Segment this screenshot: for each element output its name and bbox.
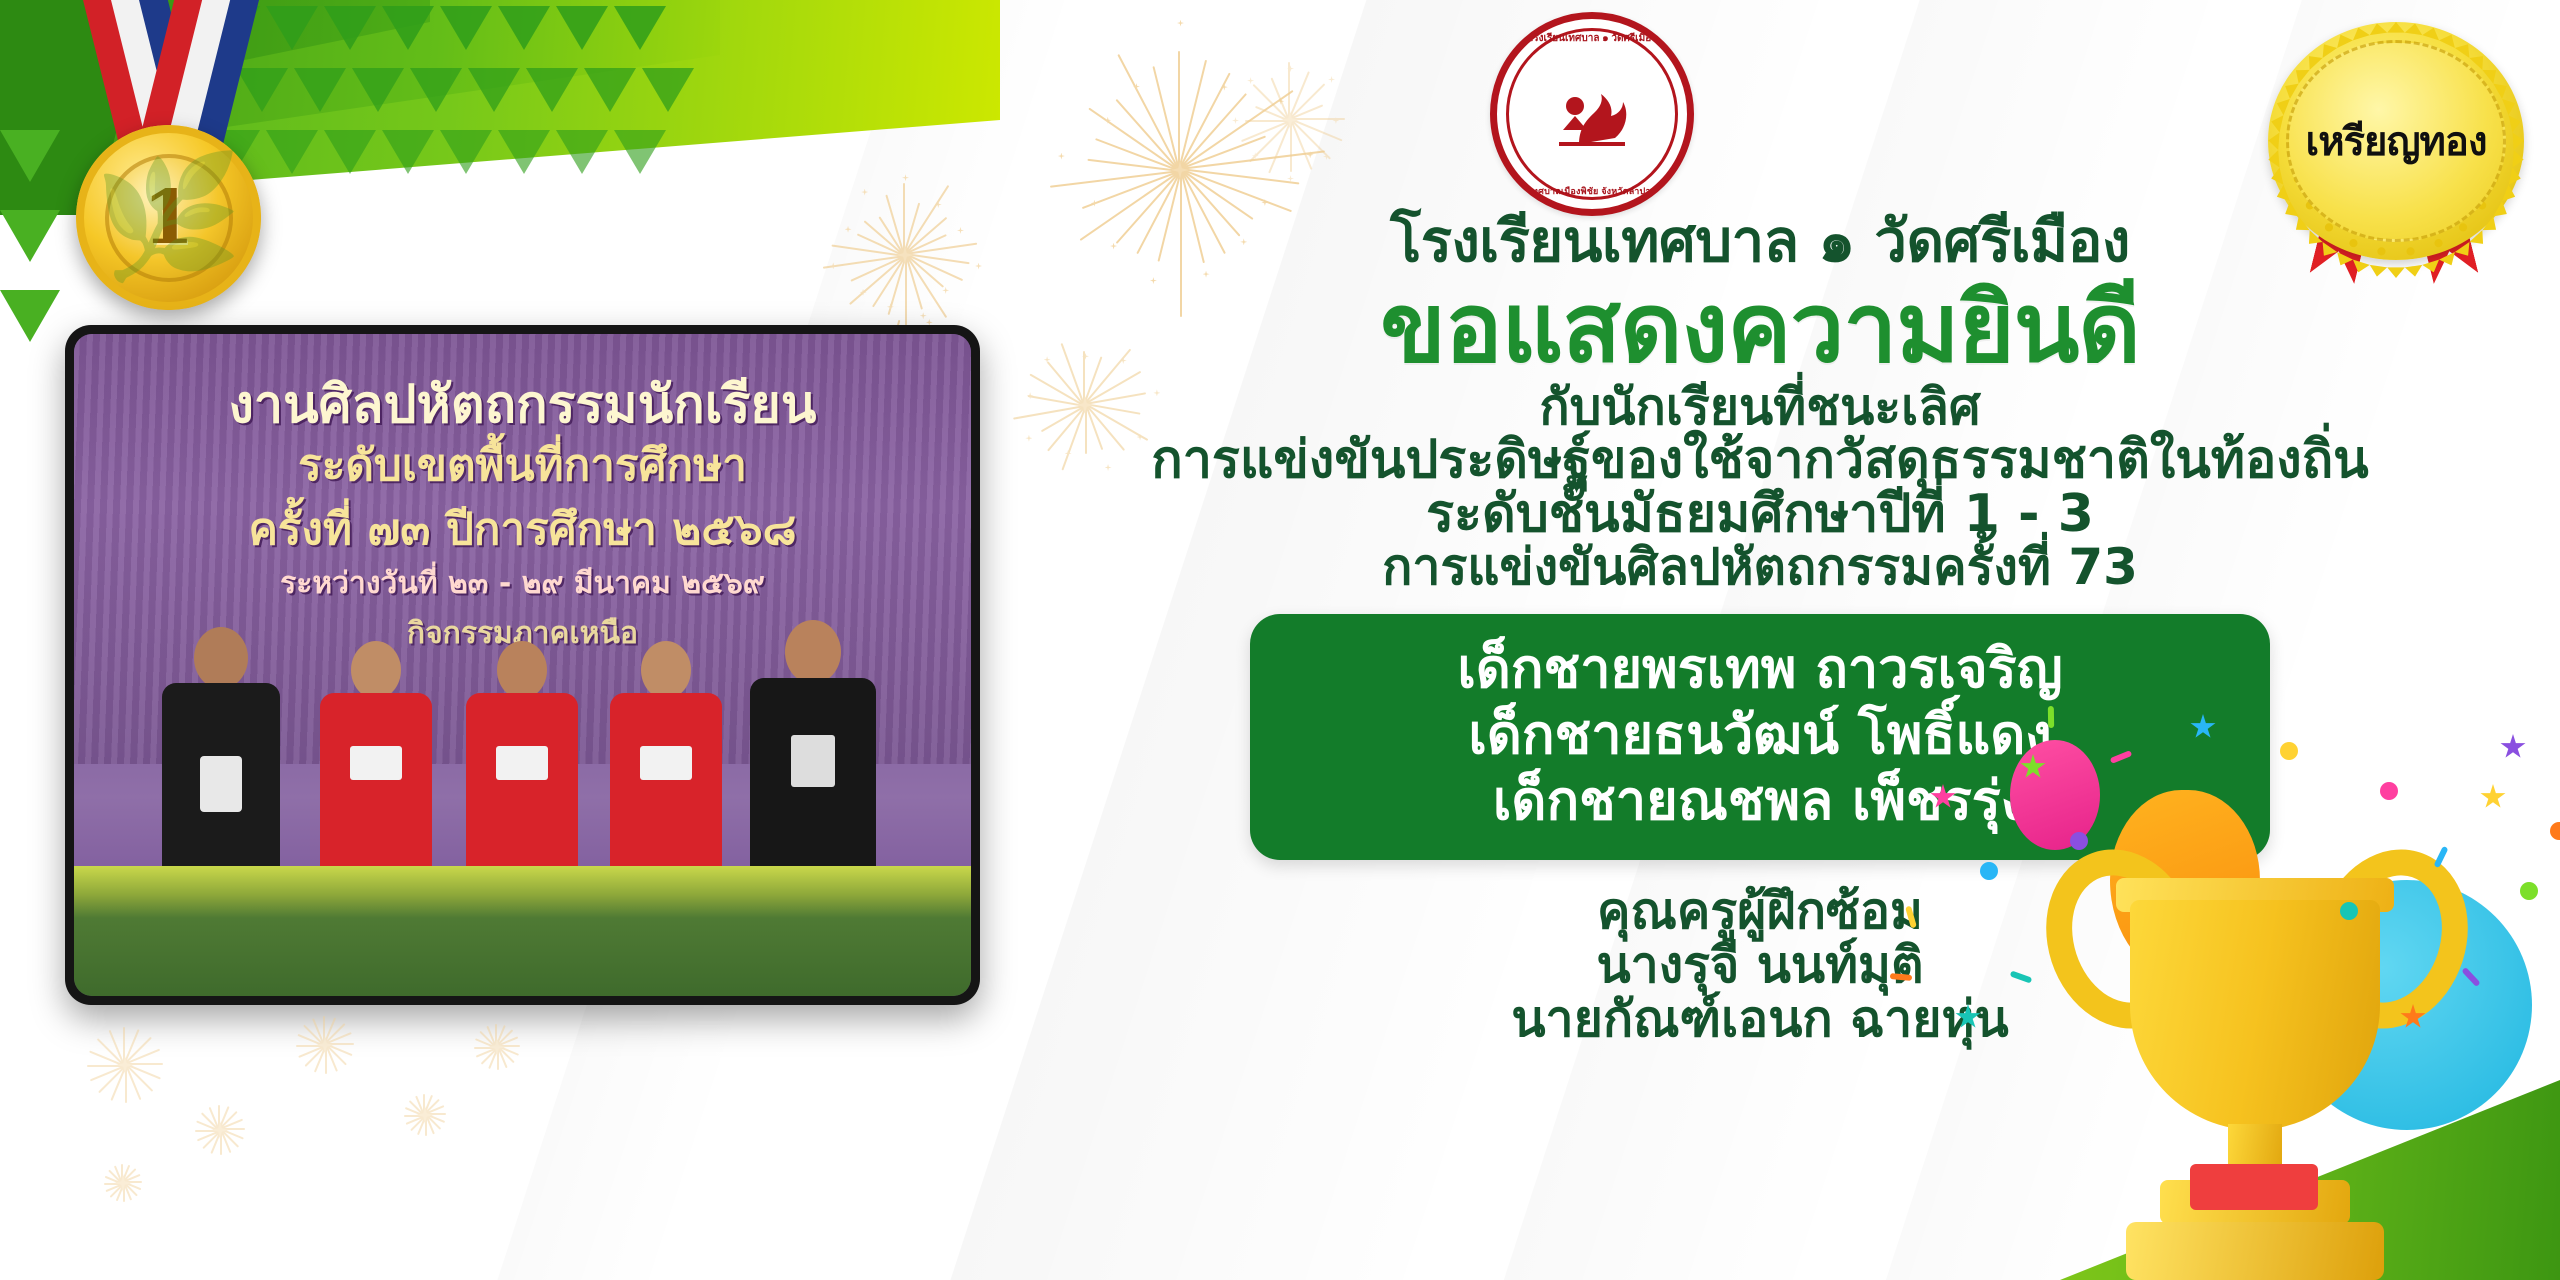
sparkle <box>400 1090 450 1140</box>
first-place-medal: 🌿 1 <box>46 0 276 250</box>
event-name: การแข่งขันประดิษฐ์ของใช้จากวัสดุธรรมชาติ… <box>1151 434 2368 486</box>
photo-person-teacher-male <box>750 678 876 898</box>
competition-name: การแข่งขันศิลปหัตถกรรมครั้งที่ 73 <box>1382 542 2138 592</box>
headline-text-column: โรงเรียนเทศบาล ๑ วัดศรีเมือง ขอแสดงความย… <box>980 0 2540 1280</box>
photo-banner-line-3: ครั้งที่ ๗๓ ปีการศึกษา ๒๕๖๘ <box>74 494 971 564</box>
medal-disc: 🌿 1 <box>76 125 261 310</box>
coach-name: นายกัณฑ์เอนก ฉายหุ่น <box>1511 994 2008 1044</box>
photo-banner-line-4: ระหว่างวันที่ ๒๓ - ๒๙ มีนาคม ๒๕๖๙ <box>74 560 971 607</box>
subtitle: กับนักเรียนที่ชนะเลิศ <box>1539 382 1980 432</box>
sparkle <box>190 1100 250 1160</box>
coach-heading: คุณครูผู้ฝึกซ้อม <box>1597 886 1923 936</box>
coach-name: นางรุจี นนท์มุติ <box>1597 940 1924 990</box>
sparkle <box>290 1010 360 1080</box>
sparkle <box>100 1160 146 1206</box>
winner-name: เด็กชายธนวัฒน์ โพธิ์แดง <box>1468 702 2051 768</box>
school-name: โรงเรียนเทศบาล ๑ วัดศรีเมือง <box>1390 212 2130 270</box>
winners-name-box: เด็กชายพรเทพ ถาวรเจริญ เด็กชายธนวัฒน์ โพ… <box>1250 614 2270 860</box>
confetti-piece <box>2550 822 2560 840</box>
sparkle <box>80 1020 170 1110</box>
winner-name: เด็กชายพรเทพ ถาวรเจริญ <box>1457 636 2062 702</box>
photo-banner-line-2: ระดับเขตพื้นที่การศึกษา <box>74 430 971 500</box>
laurel-icon: 🌿 <box>94 148 243 288</box>
award-photo: งานศิลปหัตถกรรมนักเรียน ระดับเขตพื้นที่ก… <box>65 325 980 1005</box>
winner-name: เด็กชายณชพล เพ็ชรรุ่ง <box>1493 768 2027 834</box>
congratulations-title: ขอแสดงความยินดี <box>1380 280 2140 376</box>
photo-stage-floor <box>74 866 971 996</box>
sparkle <box>470 1020 524 1074</box>
grade-level: ระดับชั้นมัธยมศึกษาปีที่ 1 - 3 <box>1426 488 2094 540</box>
corner-sparkle-decoration <box>40 980 560 1240</box>
congratulation-banner: 🌿 1 งานศิลปหัตถกรรมนักเรียน ระดับเขตพื้น… <box>0 0 2560 1280</box>
